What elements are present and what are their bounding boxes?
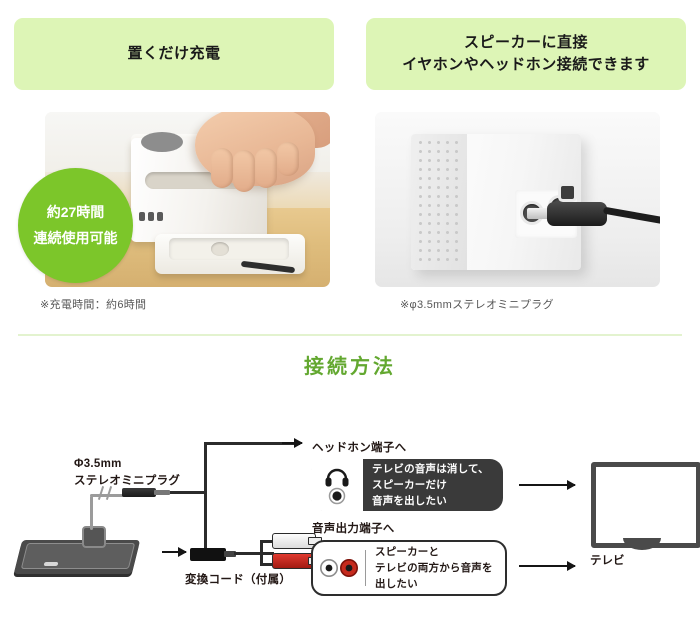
rca-jacks-icon-cell [313, 542, 365, 594]
speaker-grille-holes [416, 138, 462, 266]
label-headphone-terminal: ヘッドホン端子へ [312, 440, 406, 457]
label-mini-plug: Φ3.5mm ステレオミニプラグ [74, 456, 180, 491]
label-conversion-cord: 変換コード（付属） [185, 572, 291, 589]
rca-jacks-icon [318, 557, 360, 579]
charging-cradle-pin [211, 242, 229, 256]
callout-headphone-line3: 音声を出したい [372, 493, 489, 509]
headline-charging-text: 置くだけ充電 [127, 43, 220, 66]
conversion-cord-wire [234, 552, 274, 555]
arrow-audio-to-tv [519, 565, 575, 567]
arrow-to-conversion-cord [162, 551, 186, 553]
label-audio-out-terminal: 音声出力端子へ [312, 521, 395, 538]
diagram-mini-plug-tip [154, 490, 170, 495]
headline-audio-line2: イヤホンやヘッドホン接続できます [402, 54, 650, 77]
dock-wire-vertical [90, 496, 93, 530]
callout-headphone-line2: スピーカーだけ [372, 477, 489, 493]
headphone-jack-icon-cell [311, 459, 363, 511]
finger-2 [233, 150, 255, 192]
product-feature-page: 置くだけ充電 スピーカーに直接 イヤホンやヘッドホン接続できます [0, 0, 700, 637]
arrow-to-headphone-box [282, 442, 302, 444]
speaker-side-ports [139, 212, 167, 221]
caption-plug-spec: ※φ3.5mmステレオミニプラグ [400, 296, 554, 312]
badge-line1: 約27時間 [47, 200, 105, 226]
finger-3 [255, 148, 277, 188]
caption-charging-time: ※充電時間：約6時間 [40, 296, 146, 312]
dc-power-port [561, 186, 574, 199]
callout-audio-line3: 出したい [375, 576, 493, 592]
headline-box-audio: スピーカーに直接 イヤホンやヘッドホン接続できます [366, 18, 686, 90]
label-mini-plug-line2: ステレオミニプラグ [74, 473, 180, 490]
callout-audio-line2: テレビの両方から音声を [375, 560, 493, 576]
tv-stand [623, 538, 661, 550]
tv-screen [591, 462, 700, 548]
diagram-dock-post [82, 526, 106, 548]
finger-1 [211, 148, 233, 188]
branch-wire-in [170, 491, 206, 494]
label-tv: テレビ [590, 552, 625, 568]
callout-headphone-line1: テレビの音声は消して、 [372, 461, 489, 477]
badge-line2: 連続使用可能 [34, 226, 118, 252]
label-mini-plug-line1: Φ3.5mm [74, 456, 180, 473]
headline-row: 置くだけ充電 スピーカーに直接 イヤホンやヘッドホン接続できます [0, 0, 700, 105]
battery-life-badge: 約27時間 連続使用可能 [18, 168, 133, 283]
callout-audio-out-option: スピーカーと テレビの両方から音声を 出したい [311, 540, 507, 596]
branch-wire-vertical [204, 442, 207, 554]
conversion-cord-plug [190, 548, 226, 561]
speaker-knob [141, 132, 183, 152]
diagram-dock-indicator [44, 562, 59, 566]
plug-body [547, 202, 607, 226]
section-divider [18, 334, 682, 336]
connection-diagram: Φ3.5mm ステレオミニプラグ 変換コード（付属） ヘッドホン端子へ 音声出力… [0, 400, 700, 637]
photo-speaker-jacks [375, 112, 660, 287]
callout-headphone-option: テレビの音声は消して、 スピーカーだけ 音声を出したい [311, 459, 503, 511]
diagram-dock-top [21, 543, 135, 569]
arrow-headphone-to-tv [519, 484, 575, 486]
callout-audio-text: スピーカーと テレビの両方から音声を 出したい [366, 544, 493, 593]
callout-headphone-text: テレビの音声は消して、 スピーカーだけ 音声を出したい [363, 461, 489, 510]
callout-audio-line1: スピーカーと [375, 544, 493, 560]
charging-cradle-inner [169, 238, 289, 260]
headline-audio-line1: スピーカーに直接 [402, 32, 650, 55]
headphone-icon [322, 465, 352, 505]
speaker-grille [411, 134, 467, 270]
section-title-connection: 接続方法 [0, 350, 700, 379]
finger-4 [277, 142, 299, 176]
headline-box-charging: 置くだけ充電 [14, 18, 334, 90]
